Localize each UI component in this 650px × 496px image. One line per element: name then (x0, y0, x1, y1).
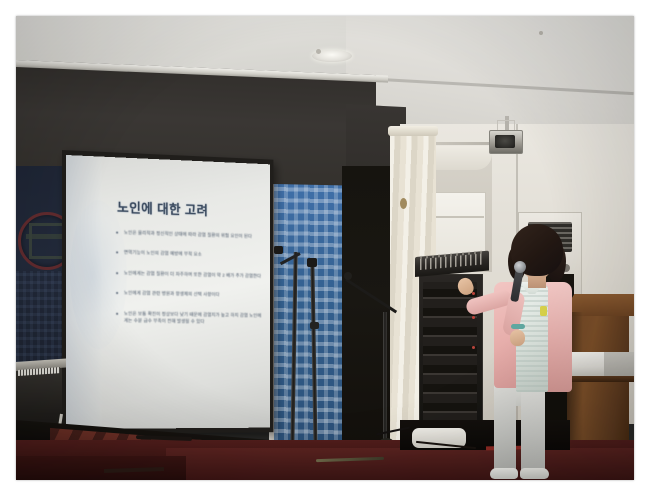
mic-stand-pole (383, 312, 387, 446)
presenter-cardigan-right (544, 282, 572, 392)
wall-emblem-bar (26, 234, 62, 239)
mic-stand-clamp (310, 322, 319, 329)
ceiling-light-dot (316, 49, 321, 54)
presenter-shoe-right (520, 468, 549, 479)
slide-bullet-item: 노인은 물리적과 정신적인 상태에 따라 감염 질환의 위험 요인이 된다 (115, 229, 263, 241)
microphone-head-icon (514, 261, 526, 273)
presenter-hand-right (510, 330, 525, 346)
projection-screen-surface: 노인에 대한 고려 노인은 물리적과 정신적인 상태에 따라 감염 질환의 위험… (66, 155, 270, 429)
photograph: 노인에 대한 고려 노인은 물리적과 정신적인 상태에 따라 감염 질환의 위험… (16, 16, 634, 480)
projector-lens (495, 135, 515, 148)
presenter-wristband (511, 324, 525, 329)
presenter-leg-right (521, 386, 545, 474)
slide-bullet-item: 노인에게 감염 관련 병원과 항생제의 선택 사항이다 (115, 289, 263, 299)
mic-clip-icon (307, 258, 317, 267)
slide-title: 노인에 대한 고려 (117, 197, 208, 219)
presenter-badge (540, 306, 547, 316)
slide-bullet-item: 노인은 보통 확진이 정상보다 낮기 때문에 감염지가 높고 하지 감염 노인에… (115, 309, 263, 326)
mic-clip-icon (274, 246, 283, 254)
wall-emblem-inner (29, 223, 65, 259)
podium-white-object-side (604, 352, 634, 379)
slide-bullet-item: 면역기능이 노인의 감염 예방에 부적 요소 (115, 249, 263, 260)
curtain-knot (400, 198, 407, 209)
photo-frame: 노인에 대한 고려 노인은 물리적과 정신적인 상태에 따라 감염 질환의 위험… (0, 0, 650, 496)
ceiling-vent-dot (539, 31, 543, 35)
presenter-leg-left (494, 386, 516, 474)
presenter-shoe-left (490, 468, 518, 479)
slide-bullet-item: 노인에게는 감염 질환이 더 자주하며 또한 감염이 약 2 배가 추가 감염한… (115, 269, 263, 280)
blue-patterned-banner (274, 184, 346, 446)
curtain-header (388, 126, 438, 136)
slide-bullet-list: 노인은 물리적과 정신적인 상태에 따라 감염 질환의 위험 요인이 된다 면역… (115, 229, 263, 339)
mic-clip-icon (344, 272, 352, 280)
